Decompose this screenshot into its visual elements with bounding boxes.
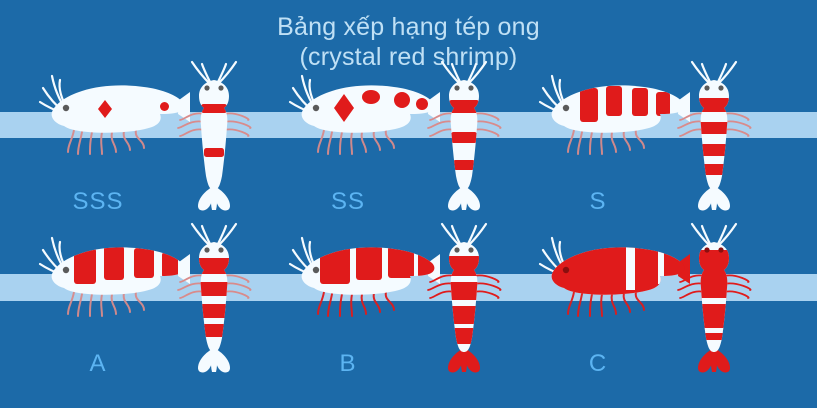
grade-label-b: B: [268, 350, 428, 378]
grade-cell-sss: SSS: [18, 62, 268, 222]
grade-label-ss: SS: [268, 188, 428, 216]
grade-label-a: A: [18, 350, 178, 378]
shrimp-top-view-b: [418, 224, 510, 374]
ranking-infographic: Bảng xếp hạng tép ong (crystal red shrim…: [0, 0, 817, 408]
grade-label-sss: SSS: [18, 188, 178, 216]
title-line-1: Bảng xếp hạng tép ong: [277, 13, 540, 41]
grade-cell-c: C: [518, 224, 768, 384]
grade-cell-b: B: [268, 224, 518, 384]
grade-label-s: S: [518, 188, 678, 216]
grade-cell-s: S: [518, 62, 768, 222]
grade-cell-ss: SS: [268, 62, 518, 222]
grade-cell-a: A: [18, 224, 268, 384]
shrimp-top-view-a: [168, 224, 260, 374]
grade-label-c: C: [518, 350, 678, 378]
shrimp-top-view-s: [668, 62, 760, 212]
shrimp-top-view-c: [668, 224, 760, 374]
shrimp-top-view-ss: [418, 62, 510, 212]
shrimp-top-view-sss: [168, 62, 260, 212]
